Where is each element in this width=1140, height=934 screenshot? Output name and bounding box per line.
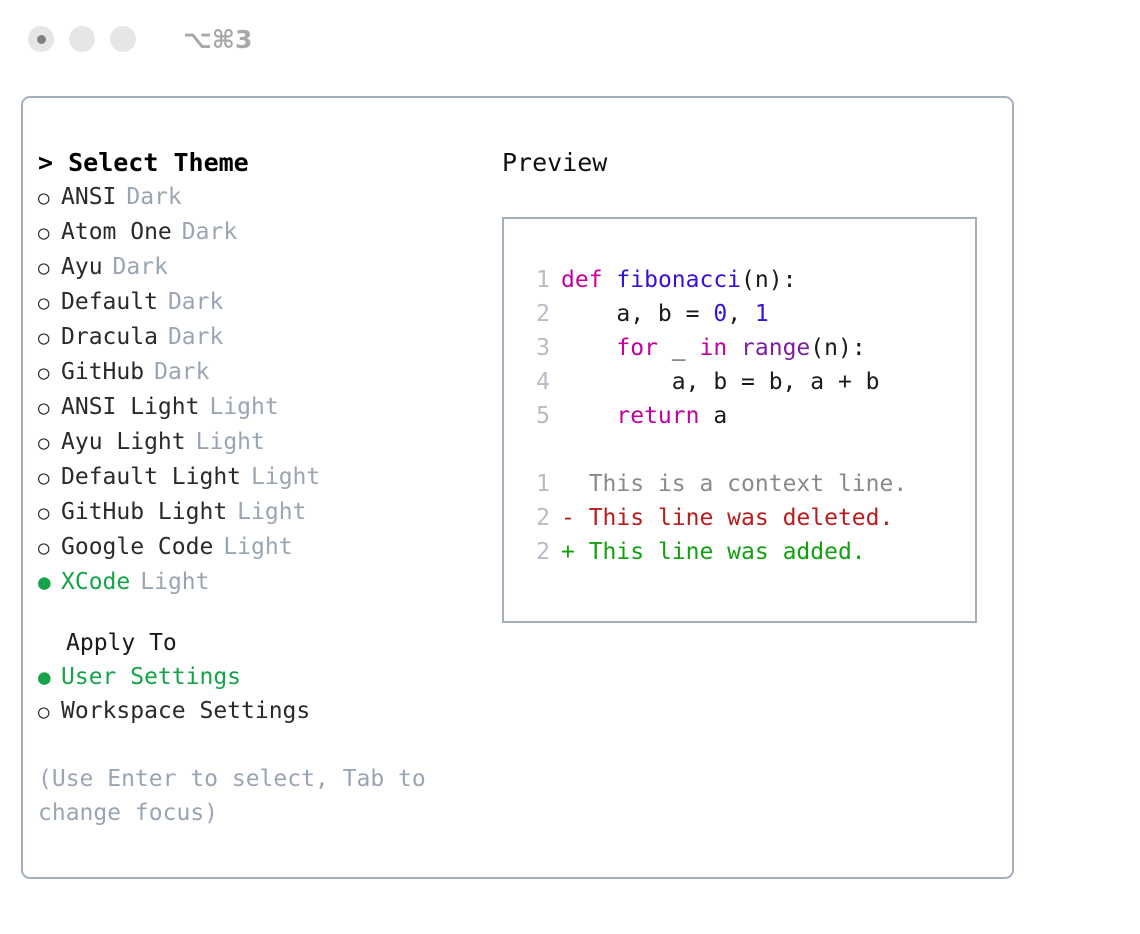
radio-unselected-icon: ○ [38, 286, 61, 320]
theme-option-default-light[interactable]: ○Default LightLight [38, 460, 478, 495]
code-token-num: 0 [713, 301, 727, 327]
code-token-pl: (n): [741, 267, 796, 293]
line-number: 5 [522, 399, 550, 433]
theme-option-tag: Dark [168, 320, 223, 354]
theme-option-google-code[interactable]: ○Google CodeLight [38, 530, 478, 565]
theme-option-tag: Dark [182, 215, 237, 249]
radio-unselected-icon: ○ [38, 321, 61, 355]
code-token-pl: a [699, 403, 727, 429]
radio-unselected-icon: ○ [38, 356, 61, 390]
radio-unselected-icon: ○ [38, 216, 61, 250]
theme-option-label: GitHub [61, 355, 144, 389]
theme-option-label: Default Light [61, 460, 241, 494]
theme-option-tag: Dark [126, 180, 181, 214]
theme-option-ansi[interactable]: ○ANSIDark [38, 180, 478, 215]
radio-selected-icon: ● [38, 565, 61, 599]
theme-option-tag: Light [209, 390, 278, 424]
code-block: 1def fibonacci(n):2 a, b = 0, 13 for _ i… [522, 263, 975, 433]
code-token-kw: return [616, 403, 699, 429]
code-token-pl [561, 403, 616, 429]
title-bar: ⌥⌘3 [0, 0, 1140, 78]
theme-option-label: ANSI Light [61, 390, 199, 424]
apply-to-option-label: Workspace Settings [61, 694, 310, 728]
code-token-pl [603, 267, 617, 293]
code-text: return a [561, 399, 727, 433]
preview-title: Preview [502, 146, 1002, 180]
line-number: 4 [522, 365, 550, 399]
theme-option-label: Atom One [61, 215, 172, 249]
keyboard-shortcut-label: ⌥⌘3 [183, 25, 252, 54]
radio-unselected-icon: ○ [38, 426, 61, 460]
theme-option-atom-one[interactable]: ○Atom OneDark [38, 215, 478, 250]
apply-to-option-workspace-settings[interactable]: ○Workspace Settings [38, 694, 478, 729]
preview-column: Preview 1def fibonacci(n):2 a, b = 0, 13… [502, 146, 1002, 623]
line-number: 1 [522, 263, 550, 297]
theme-option-default[interactable]: ○DefaultDark [38, 285, 478, 320]
theme-option-tag: Light [196, 425, 265, 459]
code-token-pl [727, 335, 741, 361]
apply-to-list: ●User Settings○Workspace Settings [38, 660, 478, 729]
theme-list: ○ANSIDark○Atom OneDark○AyuDark○DefaultDa… [38, 180, 478, 599]
theme-option-label: ANSI [61, 180, 116, 214]
diff-line: 2+ This line was added. [522, 535, 975, 569]
theme-option-label: XCode [61, 565, 130, 599]
code-preview-panel: 1def fibonacci(n):2 a, b = 0, 13 for _ i… [502, 217, 977, 623]
code-token-kw: in [699, 335, 727, 361]
code-text: a, b = 0, 1 [561, 297, 769, 331]
line-number: 2 [522, 535, 550, 569]
code-line: 1def fibonacci(n): [522, 263, 975, 297]
theme-option-xcode[interactable]: ●XCodeLight [38, 565, 478, 599]
diff-text: This line was added. [589, 535, 866, 569]
theme-option-label: Default [61, 285, 158, 319]
apply-to-option-user-settings[interactable]: ●User Settings [38, 660, 478, 694]
theme-option-label: Ayu Light [61, 425, 186, 459]
theme-option-tag: Dark [168, 285, 223, 319]
theme-picker-card: > Select Theme ○ANSIDark○Atom OneDark○Ay… [21, 96, 1014, 879]
traffic-dot-2[interactable] [69, 26, 95, 52]
select-theme-header: > Select Theme [38, 146, 478, 180]
code-text: def fibonacci(n): [561, 263, 796, 297]
diff-marker: + [561, 535, 589, 569]
code-token-pl: _ [658, 335, 700, 361]
line-number: 2 [522, 501, 550, 535]
theme-option-github[interactable]: ○GitHubDark [38, 355, 478, 390]
code-token-kw: def [561, 267, 603, 293]
traffic-dot-3[interactable] [110, 26, 136, 52]
theme-option-label: Google Code [61, 530, 213, 564]
diff-line: 2- This line was deleted. [522, 501, 975, 535]
theme-option-ayu-light[interactable]: ○Ayu LightLight [38, 425, 478, 460]
code-token-pl: (n): [810, 335, 865, 361]
theme-option-tag: Light [251, 460, 320, 494]
code-token-fn: fibonacci [616, 267, 741, 293]
theme-option-tag: Light [237, 495, 306, 529]
line-number: 1 [522, 467, 550, 501]
diff-text: This line was deleted. [589, 501, 894, 535]
diff-marker: - [561, 501, 589, 535]
radio-unselected-icon: ○ [38, 531, 61, 565]
radio-unselected-icon: ○ [38, 251, 61, 285]
traffic-dot-active[interactable] [28, 26, 54, 52]
radio-unselected-icon: ○ [38, 391, 61, 425]
keyboard-hint-text: (Use Enter to select, Tab to change focu… [38, 762, 458, 830]
theme-option-ayu[interactable]: ○AyuDark [38, 250, 478, 285]
diff-block: 1 This is a context line.2- This line wa… [522, 467, 975, 569]
line-number: 2 [522, 297, 550, 331]
theme-option-tag: Light [223, 530, 292, 564]
theme-option-tag: Dark [154, 355, 209, 389]
apply-to-header: Apply To [38, 626, 478, 660]
code-token-pl: a, b = [561, 301, 713, 327]
diff-marker [561, 467, 589, 501]
radio-selected-icon: ● [38, 660, 61, 694]
theme-option-label: Dracula [61, 320, 158, 354]
theme-option-github-light[interactable]: ○GitHub LightLight [38, 495, 478, 530]
theme-option-tag: Light [140, 565, 209, 599]
radio-unselected-icon: ○ [38, 496, 61, 530]
theme-option-label: GitHub Light [61, 495, 227, 529]
radio-unselected-icon: ○ [38, 181, 61, 215]
diff-text: This is a context line. [589, 467, 908, 501]
code-token-kw: for [616, 335, 658, 361]
theme-option-label: Ayu [61, 250, 103, 284]
theme-option-dracula[interactable]: ○DraculaDark [38, 320, 478, 355]
theme-option-tag: Dark [113, 250, 168, 284]
code-token-pl [561, 335, 616, 361]
theme-picker-column: > Select Theme ○ANSIDark○Atom OneDark○Ay… [38, 146, 478, 830]
code-token-num: 1 [755, 301, 769, 327]
radio-unselected-icon: ○ [38, 461, 61, 495]
apply-to-option-label: User Settings [61, 660, 241, 694]
code-token-bi: range [741, 335, 810, 361]
app-window: ⌥⌘3 > Select Theme ○ANSIDark○Atom OneDar… [0, 0, 1140, 934]
radio-unselected-icon: ○ [38, 695, 61, 729]
code-token-pl: a, b = b, a + b [561, 369, 880, 395]
code-text: for _ in range(n): [561, 331, 866, 365]
code-token-pl: , [727, 301, 755, 327]
line-number: 3 [522, 331, 550, 365]
traffic-dot-active-inner [37, 35, 46, 44]
theme-option-ansi-light[interactable]: ○ANSI LightLight [38, 390, 478, 425]
code-line: 4 a, b = b, a + b [522, 365, 975, 399]
code-line: 5 return a [522, 399, 975, 433]
code-text: a, b = b, a + b [561, 365, 880, 399]
code-line: 2 a, b = 0, 1 [522, 297, 975, 331]
code-line: 3 for _ in range(n): [522, 331, 975, 365]
diff-line: 1 This is a context line. [522, 467, 975, 501]
